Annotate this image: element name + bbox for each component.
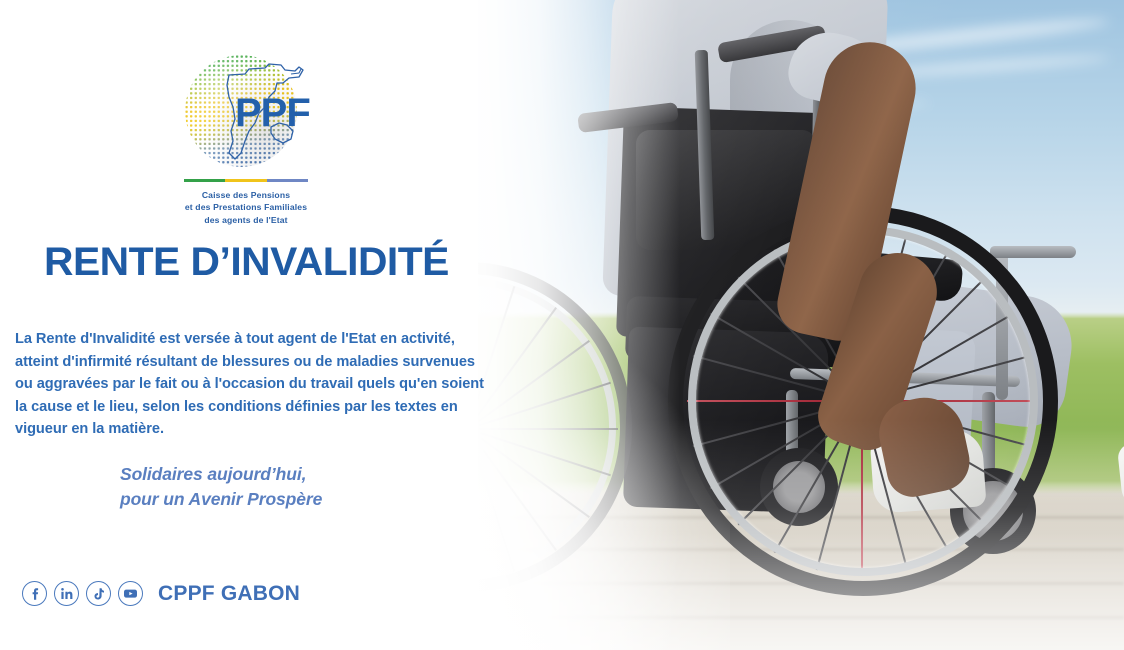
tricolor-yellow — [225, 179, 266, 182]
logo-caption-line-3: des agents de l'Etat — [140, 214, 352, 226]
slogan-line-1: Solidaires aujourd’hui, — [120, 462, 322, 487]
logo-caption-line-2: et des Prestations Familiales — [140, 201, 352, 213]
logo-caption-line-1: Caisse des Pensions — [140, 189, 352, 201]
youtube-icon[interactable] — [118, 581, 143, 606]
wheelchair-photo — [430, 0, 1124, 650]
logo-monogram: PPF — [235, 91, 310, 136]
content-panel: PPF Caisse des Pensions et des Prestatio… — [0, 0, 478, 650]
social-handle: CPPF GABON — [158, 582, 300, 606]
tiktok-icon[interactable] — [86, 581, 111, 606]
logo-caption: Caisse des Pensions et des Prestations F… — [140, 189, 352, 226]
page-title: RENTE D’INVALIDITÉ — [44, 240, 449, 285]
description-text: La Rente d'Invalidité est versée à tout … — [15, 328, 485, 441]
ppf-logo: PPF Caisse des Pensions et des Prestatio… — [140, 55, 352, 226]
tricolor-green — [184, 179, 225, 182]
linkedin-icon[interactable] — [54, 581, 79, 606]
poster: PPF Caisse des Pensions et des Prestatio… — [0, 0, 1124, 650]
tricolor-divider — [184, 179, 308, 182]
tricolor-blue — [267, 179, 308, 182]
facebook-icon[interactable] — [22, 581, 47, 606]
tiktok-glyph-icon — [92, 587, 105, 601]
linkedin-glyph-icon — [60, 587, 74, 600]
facebook-glyph-icon — [28, 587, 41, 600]
slogan: Solidaires aujourd’hui, pour un Avenir P… — [120, 462, 322, 513]
globe-emblem-icon: PPF — [183, 55, 309, 167]
slogan-line-2: pour un Avenir Prospère — [120, 487, 322, 512]
youtube-glyph-icon — [123, 588, 138, 599]
social-media-bar: CPPF GABON — [22, 581, 300, 606]
